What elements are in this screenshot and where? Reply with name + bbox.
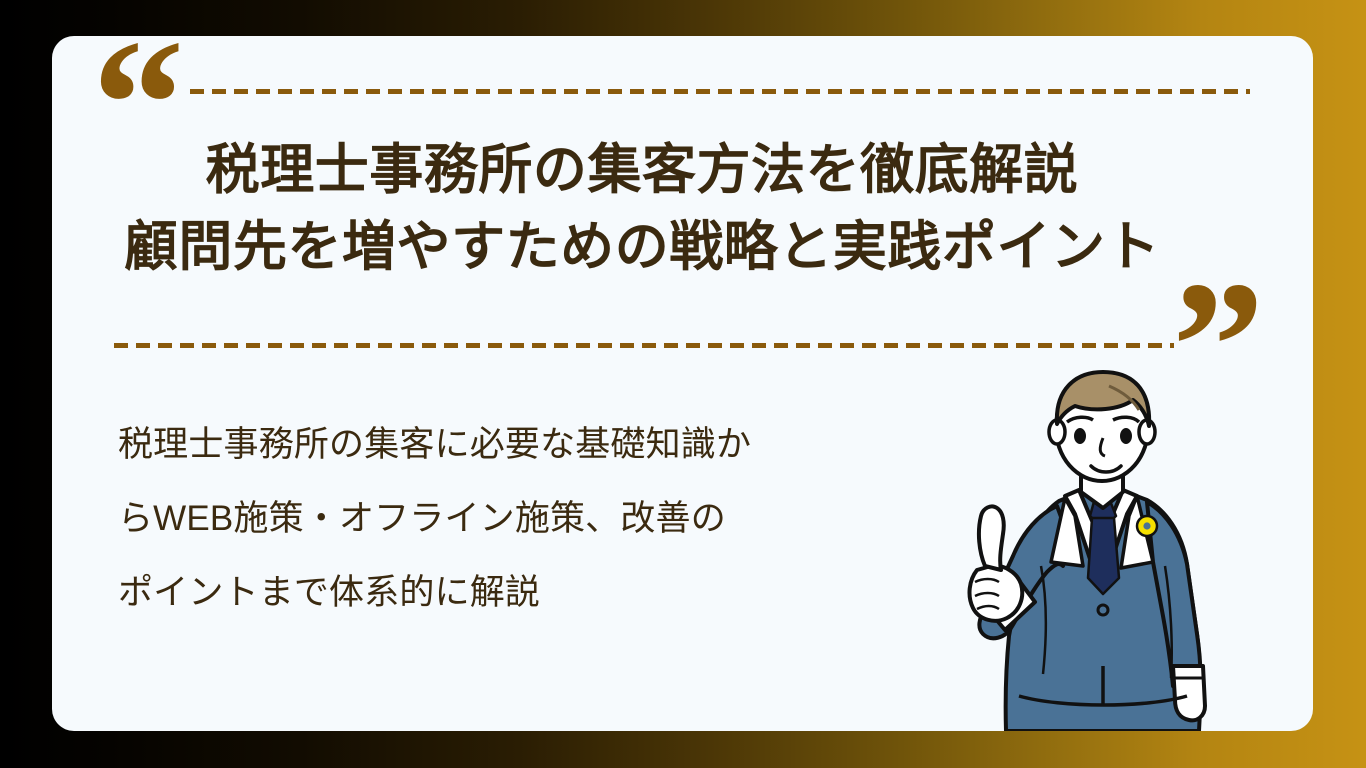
lapel-badge-center bbox=[1143, 522, 1150, 529]
businessman-svg bbox=[951, 366, 1251, 731]
right-eye bbox=[1120, 428, 1132, 444]
content-card: “ ” 税理士事務所の集客方法を徹底解説 顧問先を増やすための戦略と実践ポイント… bbox=[52, 36, 1313, 731]
dashed-rule-top bbox=[190, 89, 1250, 94]
lead-paragraph-line-1: 税理士事務所の集客に必要な基礎知識か bbox=[118, 408, 918, 482]
page-title: 税理士事務所の集客方法を徹底解説 顧問先を増やすための戦略と実践ポイント bbox=[52, 132, 1232, 285]
pointing-index-finger bbox=[979, 506, 1004, 570]
left-eye bbox=[1074, 428, 1086, 444]
dashed-rule-bottom bbox=[114, 343, 1174, 348]
businessman-pointing-illustration bbox=[951, 366, 1251, 731]
eyecatch-stage: “ ” 税理士事務所の集客方法を徹底解説 顧問先を増やすための戦略と実践ポイント… bbox=[0, 0, 1366, 768]
tie-blade bbox=[1088, 518, 1119, 594]
lead-paragraph-line-2: らWEB施策・オフライン施策、改善の bbox=[118, 482, 918, 556]
page-title-line-2: 顧問先を増やすための戦略と実践ポイント bbox=[52, 209, 1232, 286]
right-hand bbox=[1173, 666, 1205, 720]
page-title-line-1: 税理士事務所の集客方法を徹底解説 bbox=[52, 132, 1232, 209]
lead-paragraph-line-3: ポイントまで体系的に解説 bbox=[118, 556, 918, 630]
lead-paragraph: 税理士事務所の集客に必要な基礎知識か らWEB施策・オフライン施策、改善の ポイ… bbox=[118, 408, 918, 631]
